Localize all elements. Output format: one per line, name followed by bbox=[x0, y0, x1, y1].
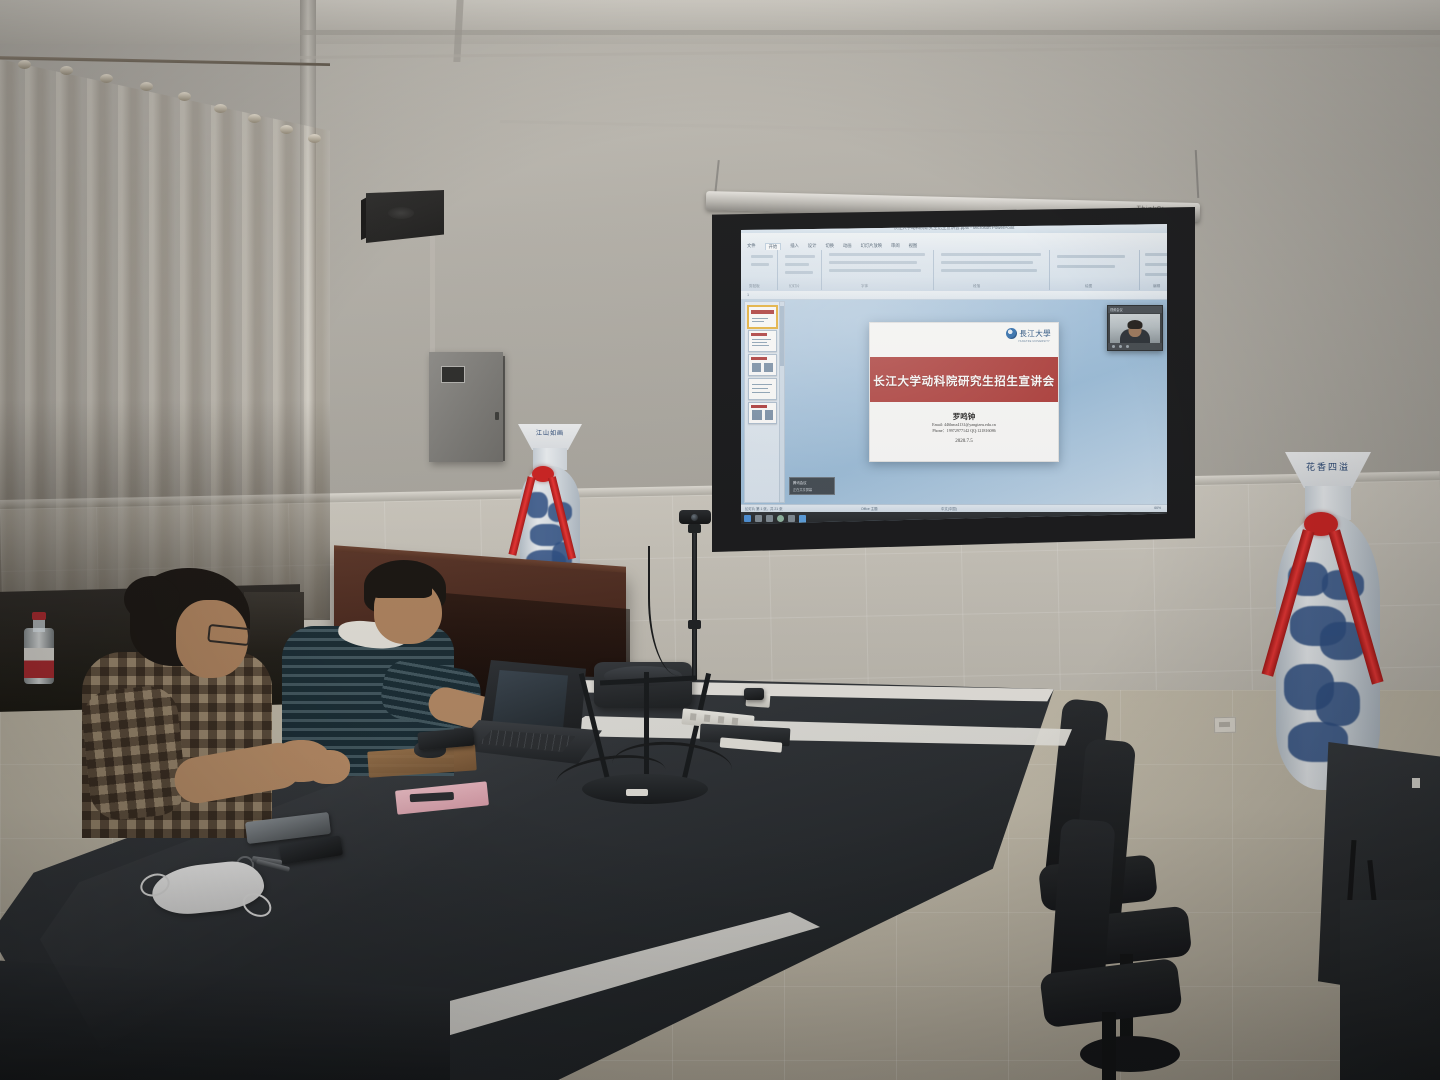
system-tray[interactable] bbox=[1148, 518, 1166, 522]
network-icon bbox=[1148, 518, 1152, 522]
projection-screen: 长江大学动科院研究生招生宣讲会.pptx - Microsoft PowerPo… bbox=[712, 207, 1195, 552]
slide-date: 2020.7.5 bbox=[870, 439, 1058, 444]
webcam-lens-icon bbox=[691, 514, 698, 521]
woman-bun bbox=[124, 576, 180, 622]
bottle-label bbox=[24, 648, 54, 678]
status-theme: Office 主题 bbox=[861, 506, 878, 511]
ribbon-group-paragraph: 段落 bbox=[973, 284, 980, 289]
man-hair-front bbox=[370, 572, 432, 598]
wall-conduit-vertical bbox=[430, 236, 435, 358]
popup-body: 正在共享屏幕 bbox=[793, 487, 812, 492]
status-slide-indicator: 幻灯片 第 1 张，共 21 张 bbox=[745, 506, 783, 511]
ppt-title-bar: 长江大学动科院研究生招生宣讲会.pptx - Microsoft PowerPo… bbox=[741, 224, 1167, 233]
video-call-feed bbox=[1110, 314, 1160, 343]
ppt-window-title: 长江大学动科院研究生招生宣讲会.pptx - Microsoft PowerPo… bbox=[894, 225, 1015, 231]
volume-icon bbox=[1155, 518, 1159, 522]
ppt-tab-insert[interactable]: 插入 bbox=[790, 243, 799, 250]
thumbnail-scrollbar[interactable] bbox=[779, 301, 785, 503]
ribbon-group-clipboard: 剪贴板 bbox=[749, 284, 760, 289]
university-logo-subtext: YANGTZE UNIVERSITY bbox=[1018, 340, 1050, 343]
windows-taskbar[interactable] bbox=[741, 512, 1167, 524]
ppt-tab-view[interactable]: 视图 bbox=[909, 243, 918, 250]
mic-icon bbox=[1112, 345, 1115, 348]
clock-icon bbox=[1162, 518, 1166, 522]
bottle-neck bbox=[33, 618, 45, 632]
ppt-tab-row: 文件 开始 插入 设计 切换 动画 幻灯片放映 审阅 视图 bbox=[747, 243, 917, 250]
curtain-grommet bbox=[140, 82, 153, 91]
slide-presenter-name: 罗鸣钟 bbox=[870, 411, 1058, 422]
start-button-icon[interactable] bbox=[744, 515, 751, 522]
share-icon bbox=[1126, 345, 1129, 348]
slide-thumbnail[interactable] bbox=[748, 354, 777, 376]
person-woman bbox=[58, 568, 358, 838]
vase-left-text: 江山如画 bbox=[520, 428, 580, 437]
ppt-workspace: 長江大學 YANGTZE UNIVERSITY 长江大学动科院研究生招生宣讲会 … bbox=[741, 299, 1167, 513]
wechat-icon[interactable] bbox=[777, 515, 784, 522]
wall-speaker bbox=[366, 190, 444, 243]
curtain-grommet bbox=[214, 104, 227, 113]
status-zoom: 66% bbox=[1154, 506, 1161, 510]
vase-right-text: 花香四溢 bbox=[1288, 460, 1368, 473]
bottle-cap bbox=[32, 612, 46, 620]
slide-thumbnail[interactable] bbox=[748, 330, 777, 352]
slide-contact-lines: Email: 446hmz4131@yangtzeu.edu.cn Phone：… bbox=[870, 422, 1058, 433]
webcam bbox=[679, 510, 711, 524]
wall-outlet bbox=[1214, 717, 1236, 733]
video-call-title: 视频会议 bbox=[1110, 307, 1123, 312]
ppt-tab-design[interactable]: 设计 bbox=[808, 243, 817, 250]
curtain-grommet bbox=[308, 134, 321, 143]
projected-image: 长江大学动科院研究生招生宣讲会.pptx - Microsoft PowerPo… bbox=[741, 224, 1167, 524]
side-table-right-lower bbox=[1340, 900, 1440, 1080]
slide-thumbnail-pane[interactable] bbox=[744, 301, 780, 503]
ceiling-right bbox=[300, 0, 1440, 30]
ribbon-group-font: 字体 bbox=[861, 284, 868, 289]
video-call-window[interactable]: 视频会议 bbox=[1107, 305, 1163, 351]
curtain-grommet bbox=[248, 114, 261, 123]
camera-icon bbox=[1119, 345, 1122, 348]
ribbon-group-drawing: 绘图 bbox=[1085, 284, 1092, 289]
ppt-tab-review[interactable]: 审阅 bbox=[891, 243, 900, 250]
vase-right: 花香四溢 bbox=[1268, 452, 1388, 792]
ppt-tab-slideshow[interactable]: 幻灯片放映 bbox=[861, 243, 882, 250]
video-call-toolbar[interactable] bbox=[1108, 343, 1162, 350]
ribbon-group-slides: 幻灯片 bbox=[789, 284, 800, 289]
slide-thumbnail[interactable] bbox=[748, 306, 777, 328]
ppt-ribbon: 文件 开始 插入 设计 切换 动画 幻灯片放映 审阅 视图 bbox=[741, 233, 1167, 292]
curtain-grommet bbox=[60, 66, 73, 75]
water-bottle bbox=[24, 612, 54, 684]
woman-hand bbox=[306, 750, 350, 784]
meeting-room-photo: ThinkStone 长江大学动科院研究生招生宣讲会.pptx - Micros… bbox=[0, 0, 1440, 1080]
curtain-grommet bbox=[100, 74, 113, 83]
current-slide[interactable]: 長江大學 YANGTZE UNIVERSITY 长江大学动科院研究生招生宣讲会 … bbox=[869, 322, 1059, 462]
remote-participant-hair bbox=[1128, 320, 1143, 329]
slide-title: 长江大学动科院研究生招生宣讲会 bbox=[870, 373, 1058, 389]
chair-post bbox=[1102, 1012, 1116, 1080]
video-call-titlebar: 视频会议 bbox=[1108, 306, 1162, 313]
electrical-panel[interactable] bbox=[429, 352, 503, 462]
ppt-tab-file[interactable]: 文件 bbox=[747, 243, 756, 250]
ppt-status-bar: 幻灯片 第 1 张，共 21 张 Office 主题 中文(中国) 66% bbox=[741, 504, 1167, 512]
meeting-notification-popup[interactable]: 腾讯会议 正在共享屏幕 bbox=[789, 477, 835, 495]
university-logo: 長江大學 bbox=[1006, 328, 1051, 339]
speaker-cone-icon bbox=[388, 207, 414, 219]
ribbon-group-editing: 编辑 bbox=[1153, 284, 1160, 289]
slide-phone: Phone：19972977142 QQ:121816086 bbox=[870, 428, 1058, 434]
popup-title: 腾讯会议 bbox=[793, 480, 807, 485]
slide-thumbnail[interactable] bbox=[748, 378, 777, 400]
university-logo-text: 長江大學 bbox=[1019, 328, 1051, 339]
folder-icon[interactable] bbox=[755, 515, 762, 522]
office-chair[interactable] bbox=[1032, 820, 1202, 1080]
small-device[interactable] bbox=[744, 688, 764, 700]
ppt-outline-label: 1 bbox=[747, 293, 749, 297]
slide-thumbnail[interactable] bbox=[748, 402, 777, 424]
woman-arm bbox=[79, 683, 188, 822]
ppt-tab-transitions[interactable]: 切换 bbox=[825, 243, 834, 250]
ceiling-line bbox=[300, 30, 1440, 35]
university-crest-icon bbox=[1006, 328, 1017, 339]
side-table-tag bbox=[1412, 778, 1420, 788]
chair-back bbox=[1050, 818, 1115, 985]
panel-latch[interactable] bbox=[495, 412, 499, 420]
ppt-tab-animations[interactable]: 动画 bbox=[843, 243, 852, 250]
powerpoint-icon[interactable] bbox=[799, 515, 806, 522]
curtain-grommet bbox=[280, 125, 293, 134]
curtain-grommet bbox=[18, 60, 31, 69]
browser-icon[interactable] bbox=[766, 515, 773, 522]
curtain-grommet bbox=[178, 92, 191, 101]
tripod-joint bbox=[688, 524, 701, 533]
status-language: 中文(中国) bbox=[941, 506, 957, 511]
app-icon[interactable] bbox=[788, 515, 795, 522]
ppt-tab-home[interactable]: 开始 bbox=[765, 243, 782, 250]
